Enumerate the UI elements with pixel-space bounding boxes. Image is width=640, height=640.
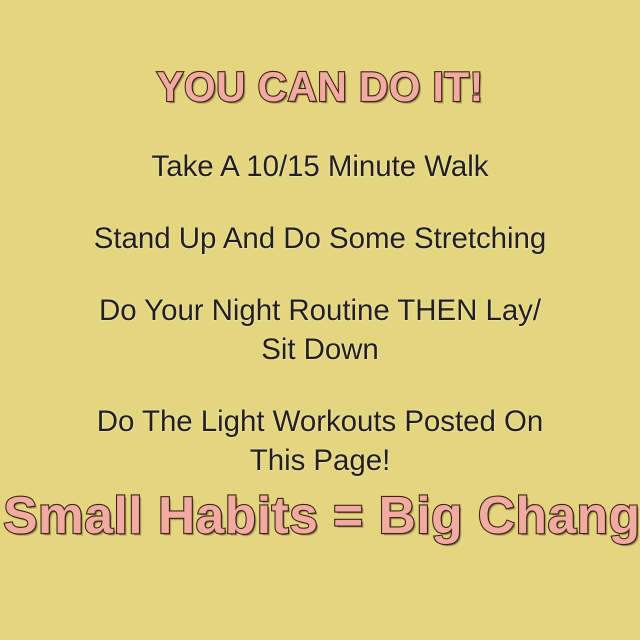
- tip-line: Take A 10/15 Minute Walk: [0, 148, 640, 187]
- tip-line: Stand Up And Do Some Stretching: [0, 220, 640, 259]
- tip-line: Sit Down: [0, 331, 640, 370]
- tip-line: Do Your Night Routine THEN Lay/: [0, 292, 640, 331]
- list-item: Stand Up And Do Some Stretching: [0, 220, 640, 259]
- list-item: Do Your Night Routine THEN Lay/ Sit Down: [0, 292, 640, 370]
- poster-tagline: Small Habits = Big Changes: [3, 490, 637, 542]
- tip-line: Do The Light Workouts Posted On: [0, 403, 640, 442]
- list-item: Take A 10/15 Minute Walk: [0, 148, 640, 187]
- tip-line: This Page!: [0, 442, 640, 481]
- poster-title: YOU CAN DO IT!: [10, 66, 631, 108]
- motivational-poster: YOU CAN DO IT! Take A 10/15 Minute Walk …: [0, 0, 640, 640]
- tips-list: Take A 10/15 Minute Walk Stand Up And Do…: [0, 148, 640, 481]
- list-item: Do The Light Workouts Posted On This Pag…: [0, 403, 640, 481]
